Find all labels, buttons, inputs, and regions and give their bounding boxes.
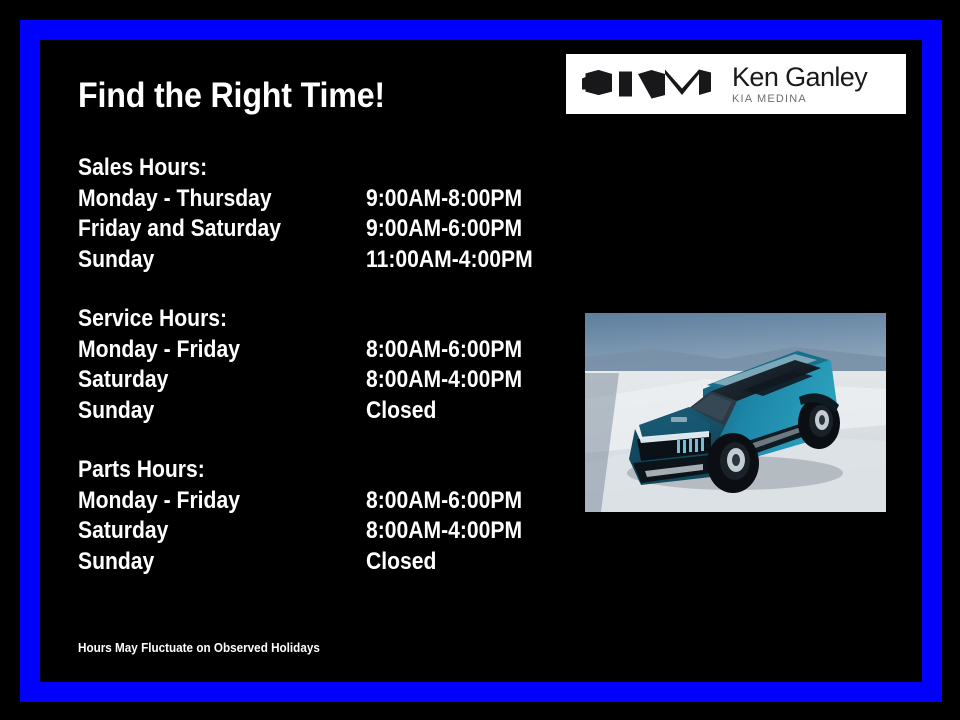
hours-row-day: Saturday: [78, 365, 331, 396]
hours-section: Sales Hours:Monday - Thursday9:00AM-8:00…: [78, 153, 578, 275]
dealer-name-group: Ken Ganley KIA MEDINA: [732, 63, 867, 106]
kia-ev9-suv-photo: [585, 313, 886, 512]
hours-row-time: 8:00AM-4:00PM: [366, 365, 522, 396]
hours-row-time: 8:00AM-6:00PM: [366, 335, 522, 366]
hours-row-day: Saturday: [78, 516, 331, 547]
hours-row-time: 9:00AM-8:00PM: [366, 184, 522, 215]
hours-row-day: Sunday: [78, 547, 331, 578]
hours-row: Saturday8:00AM-4:00PM: [78, 365, 578, 396]
hours-row-time: 11:00AM-4:00PM: [366, 245, 533, 276]
dealer-logo: Ken Ganley KIA MEDINA: [566, 54, 906, 114]
hours-row: Sunday11:00AM-4:00PM: [78, 245, 578, 276]
hours-row-time: Closed: [366, 396, 436, 427]
hours-row-day: Monday - Friday: [78, 335, 331, 366]
hours-row-day: Sunday: [78, 396, 331, 427]
slide-content-panel: Find the Right Time! Ken Ganley KIA MEDI…: [40, 40, 922, 682]
hours-row: SundayClosed: [78, 547, 578, 578]
slide-canvas: Find the Right Time! Ken Ganley KIA MEDI…: [0, 0, 960, 720]
dealer-subtitle: KIA MEDINA: [732, 92, 867, 106]
hours-row-day: Monday - Friday: [78, 486, 331, 517]
hours-list: Sales Hours:Monday - Thursday9:00AM-8:00…: [78, 153, 578, 577]
hours-section: Service Hours:Monday - Friday8:00AM-6:00…: [78, 304, 578, 426]
page-title: Find the Right Time!: [78, 76, 385, 116]
hours-row: SundayClosed: [78, 396, 578, 427]
dealer-name: Ken Ganley: [732, 63, 867, 91]
hours-section: Parts Hours:Monday - Friday8:00AM-6:00PM…: [78, 455, 578, 577]
hours-section-heading: Parts Hours:: [78, 455, 518, 486]
hours-row: Friday and Saturday9:00AM-6:00PM: [78, 214, 578, 245]
hours-row: Monday - Thursday9:00AM-8:00PM: [78, 184, 578, 215]
footer-disclaimer: Hours May Fluctuate on Observed Holidays: [78, 640, 320, 655]
hours-row-time: Closed: [366, 547, 436, 578]
hours-row-day: Friday and Saturday: [78, 214, 331, 245]
hours-row-time: 8:00AM-6:00PM: [366, 486, 522, 517]
hours-row-time: 8:00AM-4:00PM: [366, 516, 522, 547]
hours-section-heading: Sales Hours:: [78, 153, 518, 184]
hours-section-heading: Service Hours:: [78, 304, 518, 335]
hours-row: Monday - Friday8:00AM-6:00PM: [78, 335, 578, 366]
hours-row: Monday - Friday8:00AM-6:00PM: [78, 486, 578, 517]
kia-logo-icon: [582, 67, 714, 101]
hours-row-day: Monday - Thursday: [78, 184, 331, 215]
hours-row-time: 9:00AM-6:00PM: [366, 214, 522, 245]
hours-row: Saturday8:00AM-4:00PM: [78, 516, 578, 547]
hours-row-day: Sunday: [78, 245, 331, 276]
